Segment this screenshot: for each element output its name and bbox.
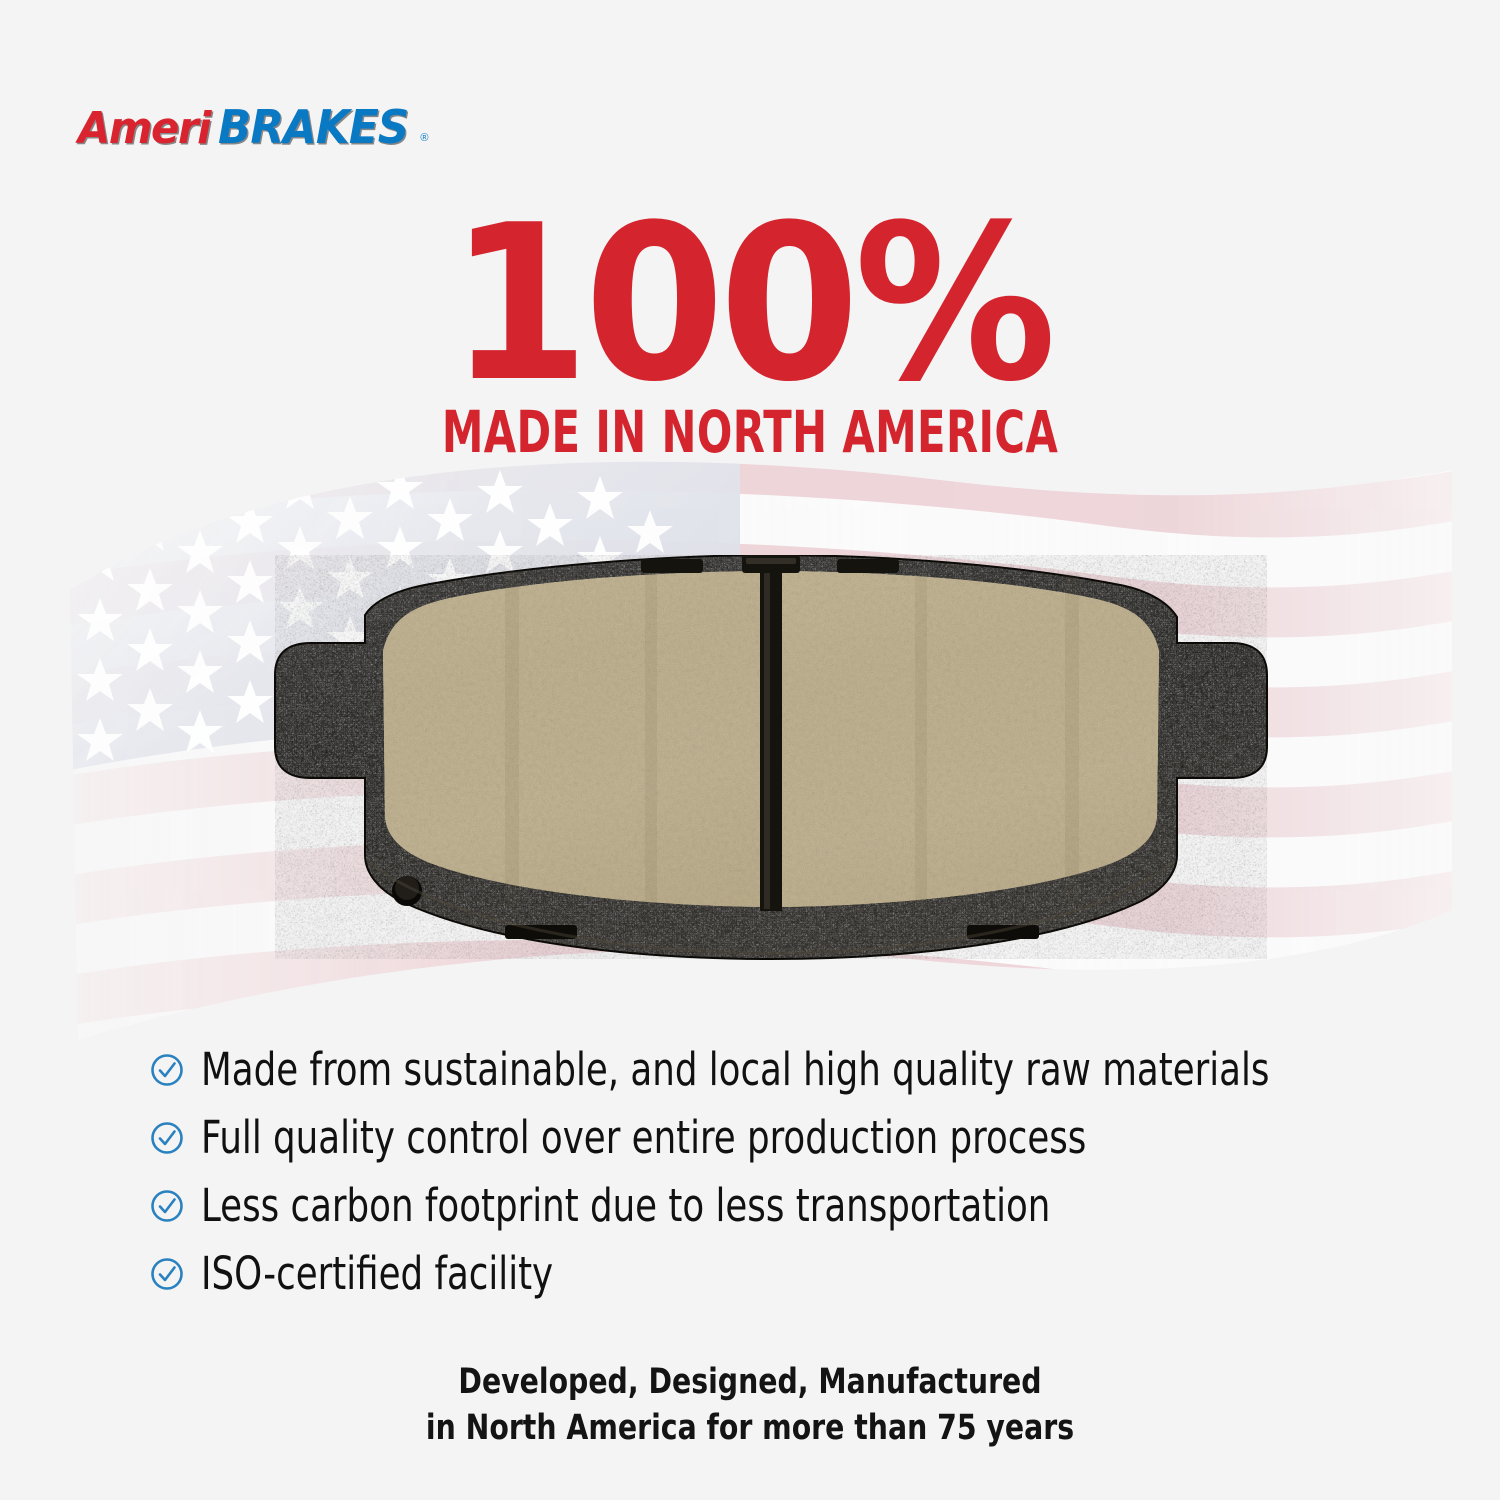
footer-line-2: in North America for more than 75 years	[75, 1406, 1425, 1452]
check-circle-icon	[150, 1121, 184, 1155]
check-circle-icon	[150, 1257, 184, 1291]
list-item: Less carbon footprint due to less transp…	[150, 1171, 1380, 1239]
list-item-label: Full quality control over entire product…	[201, 1115, 1086, 1160]
feature-bullet-list: Made from sustainable, and local high qu…	[150, 1035, 1380, 1307]
check-circle-icon	[150, 1189, 184, 1223]
list-item: Made from sustainable, and local high qu…	[150, 1035, 1380, 1103]
list-item-label: ISO-certified facility	[201, 1251, 553, 1296]
check-circle-icon	[150, 1053, 184, 1087]
list-item-label: Made from sustainable, and local high qu…	[201, 1047, 1269, 1092]
promo-poster: AmeriBRAKES® 100% MADE IN NORTH AMERICA	[0, 0, 1500, 1500]
footer-block: Developed, Designed, Manufactured in Nor…	[0, 1360, 1500, 1451]
registered-trademark-icon: ®	[420, 132, 428, 144]
footer-line-1: Developed, Designed, Manufactured	[75, 1360, 1425, 1406]
list-item-label: Less carbon footprint due to less transp…	[201, 1183, 1050, 1228]
headline-block: 100% MADE IN NORTH AMERICA	[0, 205, 1500, 461]
brake-pad-product-image	[215, 555, 1325, 985]
list-item: ISO-certified facility	[150, 1239, 1380, 1307]
headline-subtitle: MADE IN NORTH AMERICA	[150, 403, 1350, 461]
headline-percent: 100%	[45, 205, 1455, 403]
logo-text-ameri: Ameri	[78, 103, 210, 154]
list-item: Full quality control over entire product…	[150, 1103, 1380, 1171]
ameribrakes-logo: AmeriBRAKES®	[78, 100, 428, 152]
logo-text-brakes: BRAKES	[218, 100, 408, 154]
